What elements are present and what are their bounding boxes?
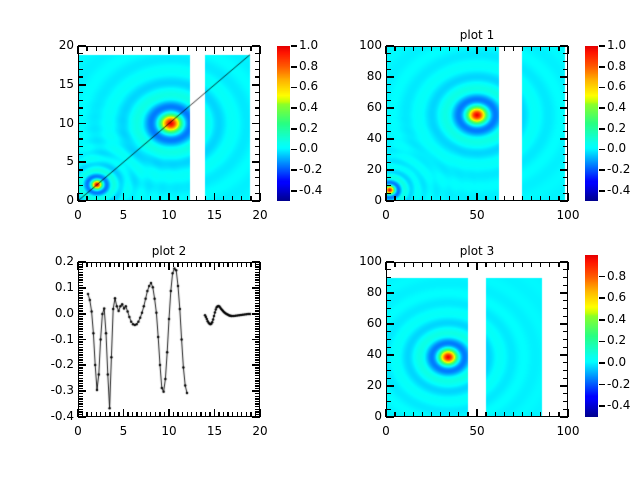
x-minor-tick bbox=[467, 262, 468, 267]
y-minor-tick bbox=[563, 331, 568, 332]
x-minor-tick bbox=[431, 262, 432, 267]
x-minor-tick bbox=[467, 412, 468, 417]
x-tick-label: 50 bbox=[455, 424, 499, 438]
y-minor-tick bbox=[386, 300, 391, 301]
y-minor-tick bbox=[563, 308, 568, 309]
x-minor-tick bbox=[458, 412, 459, 417]
y-major-tick bbox=[386, 385, 394, 387]
y-minor-tick bbox=[386, 393, 391, 394]
y-major-tick bbox=[560, 323, 568, 325]
colorbar-tick bbox=[599, 384, 605, 386]
y-minor-tick bbox=[386, 378, 391, 379]
y-minor-tick bbox=[563, 339, 568, 340]
x-minor-tick bbox=[458, 262, 459, 267]
y-minor-tick bbox=[563, 362, 568, 363]
x-minor-tick bbox=[422, 412, 423, 417]
x-minor-tick bbox=[485, 262, 486, 267]
x-minor-tick bbox=[513, 262, 514, 267]
colorbar bbox=[585, 255, 598, 417]
y-major-tick bbox=[560, 261, 568, 263]
x-minor-tick bbox=[440, 412, 441, 417]
colorbar-tick-label: -0.2 bbox=[607, 377, 630, 391]
x-minor-tick bbox=[422, 262, 423, 267]
x-minor-tick bbox=[504, 262, 505, 267]
x-minor-tick bbox=[531, 412, 532, 417]
x-minor-tick bbox=[540, 412, 541, 417]
y-minor-tick bbox=[386, 308, 391, 309]
y-minor-tick bbox=[563, 300, 568, 301]
y-major-tick bbox=[386, 323, 394, 325]
y-major-tick bbox=[560, 385, 568, 387]
y-tick-label: 60 bbox=[338, 316, 382, 330]
x-major-tick bbox=[385, 262, 387, 270]
x-minor-tick bbox=[413, 412, 414, 417]
x-minor-tick bbox=[404, 412, 405, 417]
x-major-tick bbox=[476, 262, 478, 270]
y-minor-tick bbox=[386, 277, 391, 278]
y-minor-tick bbox=[563, 393, 568, 394]
x-minor-tick bbox=[413, 262, 414, 267]
x-minor-tick bbox=[504, 412, 505, 417]
x-minor-tick bbox=[495, 412, 496, 417]
colorbar-tick bbox=[599, 405, 605, 407]
colorbar-tick bbox=[599, 319, 605, 321]
figure-canvas: 0510152005101520-0.4-0.20.00.20.40.60.81… bbox=[0, 0, 640, 480]
y-major-tick bbox=[386, 354, 394, 356]
x-minor-tick bbox=[449, 412, 450, 417]
colorbar-tick bbox=[599, 276, 605, 278]
y-minor-tick bbox=[563, 277, 568, 278]
x-minor-tick bbox=[522, 262, 523, 267]
colorbar-tick bbox=[599, 341, 605, 343]
x-minor-tick bbox=[531, 262, 532, 267]
x-minor-tick bbox=[540, 262, 541, 267]
colorbar-tick-label: 0.8 bbox=[607, 269, 626, 283]
y-minor-tick bbox=[386, 316, 391, 317]
y-major-tick bbox=[560, 416, 568, 418]
y-minor-tick bbox=[563, 285, 568, 286]
y-tick-label: 0 bbox=[338, 409, 382, 423]
y-minor-tick bbox=[386, 362, 391, 363]
y-major-tick bbox=[386, 416, 394, 418]
x-minor-tick bbox=[394, 412, 395, 417]
x-minor-tick bbox=[440, 262, 441, 267]
colorbar-tick-label: 0.2 bbox=[607, 333, 626, 347]
x-minor-tick bbox=[549, 262, 550, 267]
y-minor-tick bbox=[563, 401, 568, 402]
y-tick-label: 100 bbox=[338, 254, 382, 268]
x-minor-tick bbox=[485, 412, 486, 417]
colorbar-tick bbox=[599, 362, 605, 364]
x-minor-tick bbox=[513, 412, 514, 417]
y-tick-label: 40 bbox=[338, 347, 382, 361]
x-major-tick bbox=[476, 409, 478, 417]
y-minor-tick bbox=[563, 370, 568, 371]
y-minor-tick bbox=[563, 316, 568, 317]
colorbar-tick-label: 0.4 bbox=[607, 312, 626, 326]
y-tick-label: 80 bbox=[338, 285, 382, 299]
y-minor-tick bbox=[563, 378, 568, 379]
x-minor-tick bbox=[431, 412, 432, 417]
y-major-tick bbox=[386, 261, 394, 263]
y-minor-tick bbox=[386, 285, 391, 286]
panel-bottom-right: plot 3050100020406080100-0.4-0.20.00.20.… bbox=[0, 0, 640, 480]
x-minor-tick bbox=[522, 412, 523, 417]
y-tick-label: 20 bbox=[338, 378, 382, 392]
y-minor-tick bbox=[386, 347, 391, 348]
y-major-tick bbox=[386, 292, 394, 294]
y-major-tick bbox=[560, 292, 568, 294]
y-minor-tick bbox=[386, 401, 391, 402]
colorbar-tick-label: -0.4 bbox=[607, 398, 630, 412]
colorbar-tick bbox=[599, 297, 605, 299]
plot-title: plot 3 bbox=[386, 244, 568, 258]
colorbar-tick-label: 0.6 bbox=[607, 290, 626, 304]
x-minor-tick bbox=[404, 262, 405, 267]
x-tick-label: 0 bbox=[364, 424, 408, 438]
y-minor-tick bbox=[386, 370, 391, 371]
x-tick-label: 100 bbox=[546, 424, 590, 438]
y-minor-tick bbox=[386, 331, 391, 332]
x-major-tick bbox=[567, 262, 569, 270]
axes-frame bbox=[386, 262, 568, 417]
y-major-tick bbox=[560, 354, 568, 356]
x-minor-tick bbox=[495, 262, 496, 267]
x-minor-tick bbox=[449, 262, 450, 267]
x-minor-tick bbox=[549, 412, 550, 417]
y-minor-tick bbox=[563, 347, 568, 348]
colorbar-tick-label: 0.0 bbox=[607, 355, 626, 369]
y-minor-tick bbox=[386, 339, 391, 340]
x-minor-tick bbox=[394, 262, 395, 267]
